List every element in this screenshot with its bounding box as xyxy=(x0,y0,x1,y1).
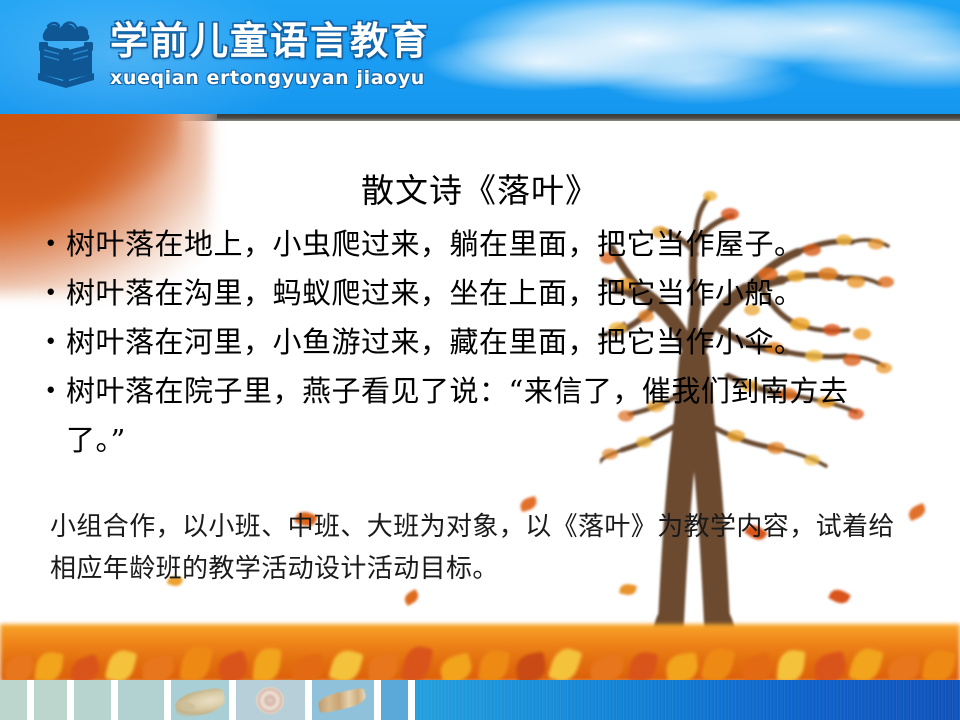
footer-panel-8 xyxy=(381,680,408,720)
footer-panel-6 xyxy=(236,680,305,720)
brand-lockup: 学前儿童语言教育 xueqian ertongyuyan jiaoyu xyxy=(110,18,430,90)
bullet-marker-icon: • xyxy=(36,367,66,416)
list-item: • 树叶落在地上，小虫爬过来，躺在里面，把它当作屋子。 xyxy=(36,220,926,269)
footer-panel-1 xyxy=(0,680,27,720)
list-item: • 树叶落在院子里，燕子看见了说：“来信了，催我们到南方去了。” xyxy=(36,367,926,465)
list-item-text: 树叶落在地上，小虫爬过来，躺在里面，把它当作屋子。 xyxy=(66,220,926,269)
slide-content: 散文诗《落叶》 • 树叶落在地上，小虫爬过来，躺在里面，把它当作屋子。 • 树叶… xyxy=(0,114,960,720)
bullet-list: • 树叶落在地上，小虫爬过来，躺在里面，把它当作屋子。 • 树叶落在沟里，蚂蚁爬… xyxy=(36,220,926,465)
brand-title-cn: 学前儿童语言教育 xyxy=(110,18,430,64)
footer-panel-gap xyxy=(408,680,415,720)
header-banner: 学前儿童语言教育 xueqian ertongyuyan jiaoyu xyxy=(0,0,960,114)
footer-panel-gap xyxy=(229,680,236,720)
list-item: • 树叶落在沟里，蚂蚁爬过来，坐在上面，把它当作小船。 xyxy=(36,269,926,318)
footer-strip xyxy=(0,680,960,720)
presentation-slide: 学前儿童语言教育 xueqian ertongyuyan jiaoyu xyxy=(0,0,960,720)
bullet-marker-icon: • xyxy=(36,220,66,269)
footer-panel-gap xyxy=(27,680,34,720)
page-title: 散文诗《落叶》 xyxy=(0,171,960,211)
list-item: • 树叶落在河里，小鱼游过来，藏在里面，把它当作小伞。 xyxy=(36,318,926,367)
bullet-marker-icon: • xyxy=(36,318,66,367)
spiral-shell-icon xyxy=(317,687,367,714)
list-item-text: 树叶落在河里，小鱼游过来，藏在里面，把它当作小伞。 xyxy=(66,318,926,367)
brand-pinyin: xueqian ertongyuyan jiaoyu xyxy=(110,66,430,90)
task-instruction: 小组合作，以小班、中班、大班为对象，以《落叶》为教学内容，试着给相应年龄班的教学… xyxy=(50,506,910,590)
footer-panel-3 xyxy=(74,680,111,720)
open-book-icon xyxy=(26,14,106,94)
footer-panel-gap xyxy=(111,680,118,720)
footer-panel-5 xyxy=(171,680,229,720)
list-item-text: 树叶落在沟里，蚂蚁爬过来，坐在上面，把它当作小船。 xyxy=(66,269,926,318)
list-item-text: 树叶落在院子里，燕子看见了说：“来信了，催我们到南方去了。” xyxy=(66,367,866,465)
footer-panel-gap xyxy=(305,680,312,720)
footer-panel-7 xyxy=(312,680,374,720)
footer-panel-gap xyxy=(374,680,381,720)
bullet-marker-icon: • xyxy=(36,269,66,318)
footer-panel-gap xyxy=(164,680,171,720)
footer-panel-2 xyxy=(34,680,67,720)
footer-panel-4 xyxy=(118,680,164,720)
footer-panel-gap xyxy=(67,680,74,720)
snail-shell-icon xyxy=(256,687,284,714)
